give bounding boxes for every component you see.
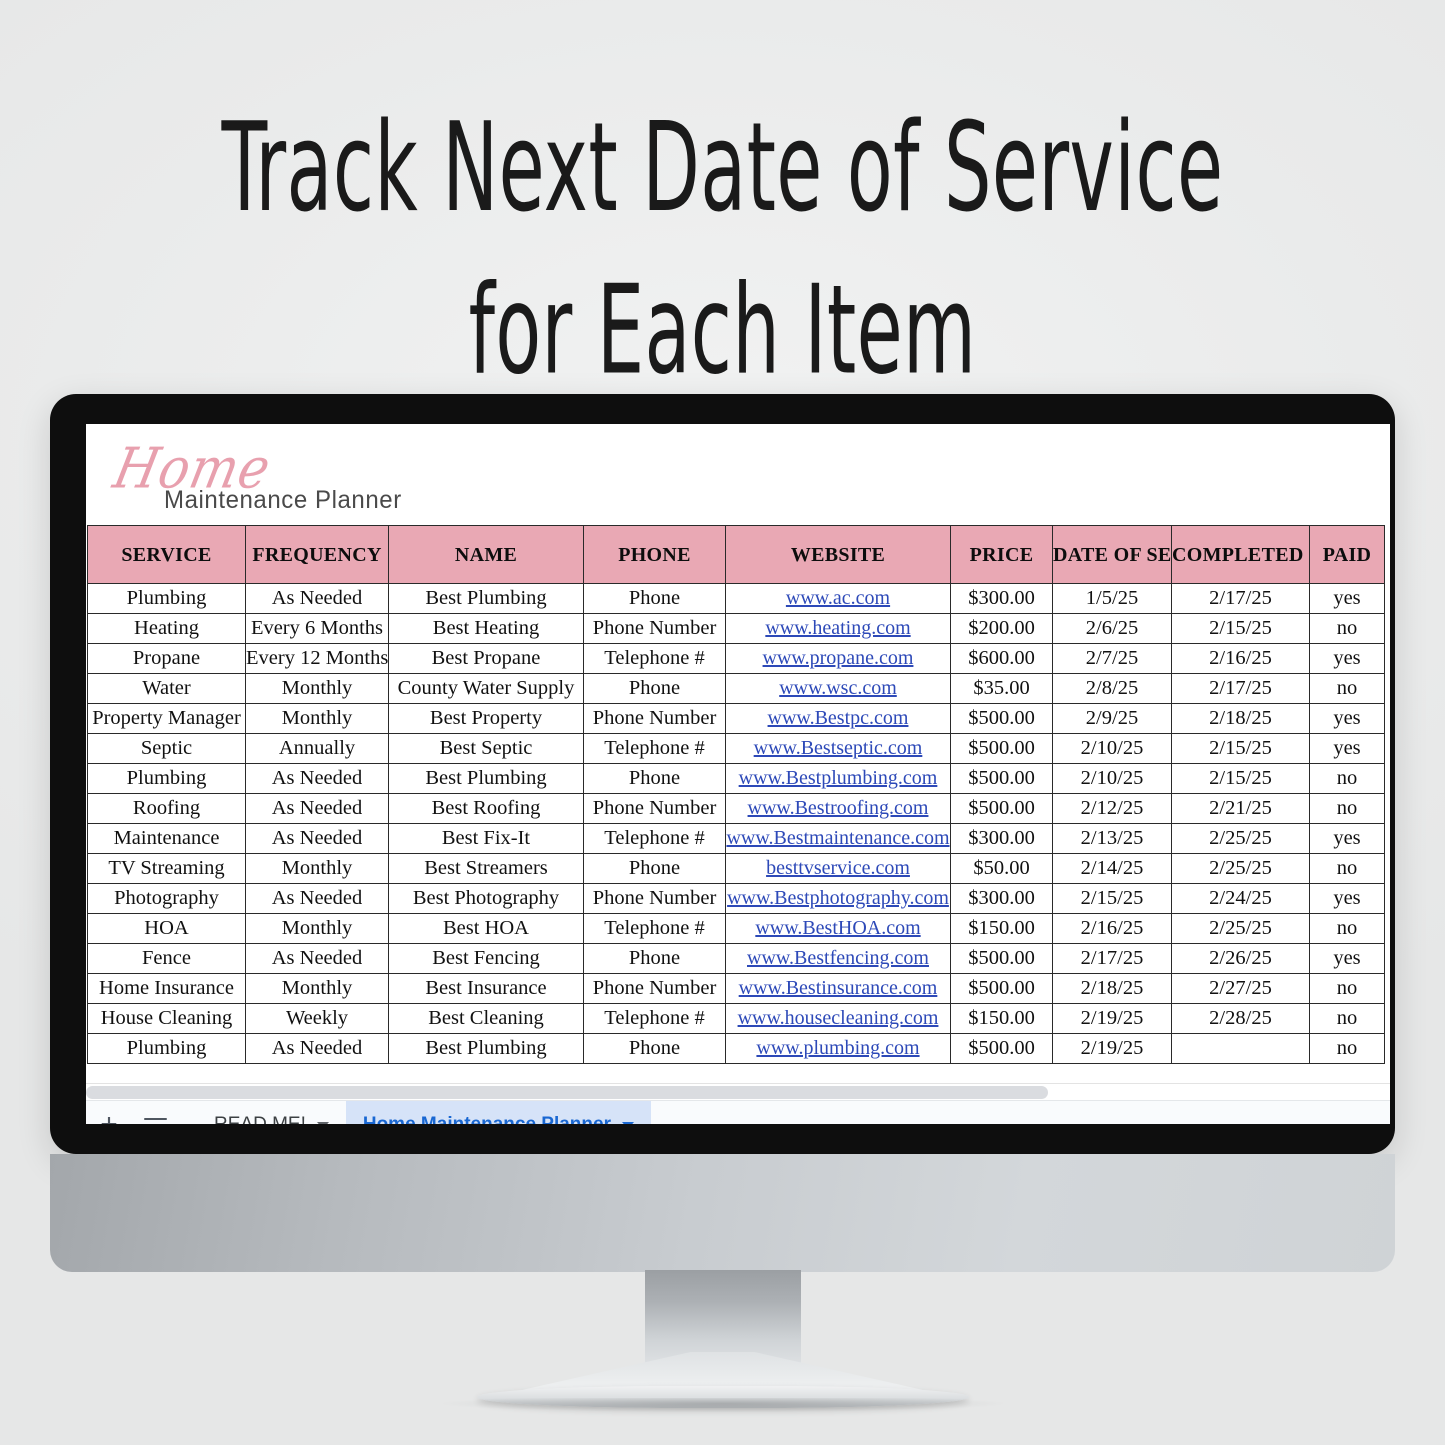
cell-price[interactable]: $300.00 bbox=[951, 884, 1053, 914]
cell-name[interactable]: Best Plumbing bbox=[389, 584, 584, 614]
cell-service[interactable]: Plumbing bbox=[88, 584, 246, 614]
cell-service[interactable]: Water bbox=[88, 674, 246, 704]
cell-website[interactable]: www.Bestroofing.com bbox=[726, 794, 951, 824]
cell-service[interactable]: Maintenance bbox=[88, 824, 246, 854]
sheet-tab-bar: + READ ME! Home Maintenance Planner bbox=[86, 1100, 1390, 1124]
spreadsheet-grid[interactable]: SERVICE FREQUENCY NAME PHONE WEBSITE PRI… bbox=[86, 525, 1390, 1083]
cell-website[interactable]: besttvservice.com bbox=[726, 854, 951, 884]
cell-completed-date[interactable]: 2/17/25 bbox=[1172, 584, 1310, 614]
cell-service[interactable]: Home Insurance bbox=[88, 974, 246, 1004]
cell-website[interactable]: www.Bestmaintenance.com bbox=[726, 824, 951, 854]
cell-price[interactable]: $150.00 bbox=[951, 914, 1053, 944]
cell-price[interactable]: $500.00 bbox=[951, 794, 1053, 824]
table-header-row: SERVICE FREQUENCY NAME PHONE WEBSITE PRI… bbox=[88, 526, 1385, 584]
sheet-tab-read-me-label: READ ME! bbox=[214, 1114, 306, 1124]
cell-completed-date[interactable]: 2/15/25 bbox=[1172, 734, 1310, 764]
cell-frequency[interactable]: Every 12 Months bbox=[246, 644, 389, 674]
cell-name[interactable]: Best Fix-It bbox=[389, 824, 584, 854]
column-header-service[interactable]: SERVICE bbox=[88, 526, 246, 584]
table-row: MaintenanceAs NeededBest Fix-ItTelephone… bbox=[88, 824, 1385, 854]
horizontal-scrollbar-track[interactable] bbox=[86, 1083, 1390, 1101]
column-header-date-of-service[interactable]: DATE OF SERVICE bbox=[1053, 526, 1172, 584]
cell-completed-date[interactable]: 2/15/25 bbox=[1172, 614, 1310, 644]
poster-canvas: Track Next Date of Service for Each Item… bbox=[0, 0, 1445, 1445]
maintenance-table: SERVICE FREQUENCY NAME PHONE WEBSITE PRI… bbox=[87, 525, 1385, 1064]
website-link[interactable]: besttvservice.com bbox=[766, 857, 910, 879]
cell-frequency[interactable]: As Needed bbox=[246, 764, 389, 794]
cell-frequency[interactable]: Monthly bbox=[246, 854, 389, 884]
cell-date-of-service[interactable]: 2/19/25 bbox=[1053, 1004, 1172, 1034]
cell-paid[interactable]: yes bbox=[1310, 884, 1385, 914]
cell-paid[interactable]: no bbox=[1310, 854, 1385, 884]
website-link[interactable]: www.housecleaning.com bbox=[738, 1007, 939, 1029]
cell-date-of-service[interactable]: 2/7/25 bbox=[1053, 644, 1172, 674]
cell-phone[interactable]: Phone bbox=[584, 584, 726, 614]
cell-price[interactable]: $500.00 bbox=[951, 974, 1053, 1004]
cell-phone[interactable]: Phone bbox=[584, 674, 726, 704]
cell-date-of-service[interactable]: 2/10/25 bbox=[1053, 764, 1172, 794]
cell-name[interactable]: Best Cleaning bbox=[389, 1004, 584, 1034]
website-link[interactable]: www.BestHOA.com bbox=[755, 917, 920, 939]
cell-price[interactable]: $500.00 bbox=[951, 944, 1053, 974]
website-link[interactable]: www.ac.com bbox=[786, 587, 890, 609]
cell-completed-date[interactable]: 2/17/25 bbox=[1172, 674, 1310, 704]
cell-price[interactable]: $500.00 bbox=[951, 1034, 1053, 1064]
table-row: SepticAnnuallyBest SepticTelephone #www.… bbox=[88, 734, 1385, 764]
cell-name[interactable]: Best Plumbing bbox=[389, 1034, 584, 1064]
monitor-bezel: Home Maintenance Planner SERVICE FREQ bbox=[50, 394, 1395, 1154]
cell-date-of-service[interactable]: 2/19/25 bbox=[1053, 1034, 1172, 1064]
cell-website[interactable]: www.Bestseptic.com bbox=[726, 734, 951, 764]
website-link[interactable]: www.heating.com bbox=[765, 617, 910, 639]
website-link[interactable]: www.wsc.com bbox=[779, 677, 897, 699]
cell-date-of-service[interactable]: 2/15/25 bbox=[1053, 884, 1172, 914]
hamburger-icon bbox=[144, 1114, 167, 1124]
cell-price[interactable]: $35.00 bbox=[951, 674, 1053, 704]
table-body: PlumbingAs NeededBest PlumbingPhonewww.a… bbox=[88, 584, 1385, 1064]
table-row: HeatingEvery 6 MonthsBest HeatingPhone N… bbox=[88, 614, 1385, 644]
cell-name[interactable]: County Water Supply bbox=[389, 674, 584, 704]
cell-date-of-service[interactable]: 2/6/25 bbox=[1053, 614, 1172, 644]
cell-phone[interactable]: Phone Number bbox=[584, 974, 726, 1004]
website-link[interactable]: www.Bestroofing.com bbox=[748, 797, 929, 819]
website-link[interactable]: www.Bestplumbing.com bbox=[739, 767, 938, 789]
cell-price[interactable]: $500.00 bbox=[951, 764, 1053, 794]
cell-completed-date[interactable]: 2/24/25 bbox=[1172, 884, 1310, 914]
cell-name[interactable]: Best Insurance bbox=[389, 974, 584, 1004]
cell-completed-date[interactable]: 2/25/25 bbox=[1172, 824, 1310, 854]
cell-price[interactable]: $150.00 bbox=[951, 1004, 1053, 1034]
cell-frequency[interactable]: Monthly bbox=[246, 974, 389, 1004]
cell-website[interactable]: www.housecleaning.com bbox=[726, 1004, 951, 1034]
table-row: FenceAs NeededBest FencingPhonewww.Bestf… bbox=[88, 944, 1385, 974]
website-link[interactable]: www.Bestseptic.com bbox=[754, 737, 923, 759]
cell-date-of-service[interactable]: 2/10/25 bbox=[1053, 734, 1172, 764]
cell-date-of-service[interactable]: 2/8/25 bbox=[1053, 674, 1172, 704]
cell-frequency[interactable]: As Needed bbox=[246, 1034, 389, 1064]
page-title-line-2: for Each Item bbox=[145, 249, 1301, 412]
cell-service[interactable]: Septic bbox=[88, 734, 246, 764]
cell-website[interactable]: www.ac.com bbox=[726, 584, 951, 614]
cell-completed-date[interactable]: 2/16/25 bbox=[1172, 644, 1310, 674]
table-row: PropaneEvery 12 MonthsBest PropaneTeleph… bbox=[88, 644, 1385, 674]
table-row: PlumbingAs NeededBest PlumbingPhonewww.p… bbox=[88, 1034, 1385, 1064]
cell-website[interactable]: www.Bestfencing.com bbox=[726, 944, 951, 974]
cell-service[interactable]: Plumbing bbox=[88, 764, 246, 794]
cell-paid[interactable]: no bbox=[1310, 794, 1385, 824]
cell-date-of-service[interactable]: 2/18/25 bbox=[1053, 974, 1172, 1004]
cell-phone[interactable]: Telephone # bbox=[584, 644, 726, 674]
cell-phone[interactable]: Telephone # bbox=[584, 824, 726, 854]
home-maintenance-planner-logo: Home Maintenance Planner bbox=[122, 436, 452, 520]
column-header-frequency[interactable]: FREQUENCY bbox=[246, 526, 389, 584]
table-row: House CleaningWeeklyBest CleaningTelepho… bbox=[88, 1004, 1385, 1034]
table-row: WaterMonthlyCounty Water SupplyPhonewww.… bbox=[88, 674, 1385, 704]
chevron-down-icon[interactable] bbox=[317, 1122, 329, 1125]
cell-completed-date[interactable]: 2/26/25 bbox=[1172, 944, 1310, 974]
cell-completed-date[interactable]: 2/18/25 bbox=[1172, 704, 1310, 734]
sheet-tab-home-maintenance-planner[interactable]: Home Maintenance Planner bbox=[346, 1101, 651, 1124]
cell-date-of-service[interactable]: 2/9/25 bbox=[1053, 704, 1172, 734]
cell-paid[interactable]: no bbox=[1310, 974, 1385, 1004]
cell-frequency[interactable]: As Needed bbox=[246, 944, 389, 974]
website-link[interactable]: www.Bestmaintenance.com bbox=[726, 827, 949, 849]
cell-frequency[interactable]: As Needed bbox=[246, 794, 389, 824]
cell-name[interactable]: Best Plumbing bbox=[389, 764, 584, 794]
monitor-screen: Home Maintenance Planner SERVICE FREQ bbox=[86, 424, 1390, 1124]
chevron-down-icon[interactable] bbox=[622, 1122, 634, 1125]
cell-paid[interactable]: no bbox=[1310, 764, 1385, 794]
cell-completed-date[interactable]: 2/28/25 bbox=[1172, 1004, 1310, 1034]
column-header-website[interactable]: WEBSITE bbox=[726, 526, 951, 584]
cell-paid[interactable]: yes bbox=[1310, 644, 1385, 674]
cell-name[interactable]: Best Heating bbox=[389, 614, 584, 644]
cell-frequency[interactable]: Monthly bbox=[246, 914, 389, 944]
sheet-tab-home-maintenance-planner-label: Home Maintenance Planner bbox=[363, 1114, 611, 1124]
cell-price[interactable]: $500.00 bbox=[951, 734, 1053, 764]
cell-website[interactable]: www.propane.com bbox=[726, 644, 951, 674]
cell-name[interactable]: Best Property bbox=[389, 704, 584, 734]
cell-paid[interactable]: no bbox=[1310, 1034, 1385, 1064]
cell-completed-date[interactable]: 2/15/25 bbox=[1172, 764, 1310, 794]
cell-price[interactable]: $300.00 bbox=[951, 824, 1053, 854]
cell-phone[interactable]: Phone Number bbox=[584, 704, 726, 734]
cell-phone[interactable]: Phone bbox=[584, 1034, 726, 1064]
cell-phone[interactable]: Telephone # bbox=[584, 734, 726, 764]
cell-service[interactable]: Property Manager bbox=[88, 704, 246, 734]
cell-paid[interactable]: yes bbox=[1310, 734, 1385, 764]
table-row: TV StreamingMonthlyBest StreamersPhonebe… bbox=[88, 854, 1385, 884]
cell-name[interactable]: Best Photography bbox=[389, 884, 584, 914]
cell-frequency[interactable]: As Needed bbox=[246, 884, 389, 914]
cell-paid[interactable]: no bbox=[1310, 614, 1385, 644]
cell-frequency[interactable]: Monthly bbox=[246, 674, 389, 704]
cell-website[interactable]: www.wsc.com bbox=[726, 674, 951, 704]
website-link[interactable]: www.propane.com bbox=[763, 647, 914, 669]
cell-name[interactable]: Best Propane bbox=[389, 644, 584, 674]
cell-phone[interactable]: Telephone # bbox=[584, 914, 726, 944]
cell-phone[interactable]: Phone bbox=[584, 854, 726, 884]
cell-name[interactable]: Best HOA bbox=[389, 914, 584, 944]
horizontal-scrollbar-thumb[interactable] bbox=[86, 1086, 1048, 1099]
cell-website[interactable]: www.BestHOA.com bbox=[726, 914, 951, 944]
add-sheet-icon[interactable]: + bbox=[86, 1101, 132, 1124]
cell-price[interactable]: $200.00 bbox=[951, 614, 1053, 644]
monitor-stand-shadow bbox=[443, 1398, 1003, 1412]
cell-paid[interactable]: yes bbox=[1310, 944, 1385, 974]
cell-paid[interactable]: yes bbox=[1310, 824, 1385, 854]
table-row: RoofingAs NeededBest RoofingPhone Number… bbox=[88, 794, 1385, 824]
all-sheets-menu-icon[interactable] bbox=[132, 1101, 178, 1124]
cell-website[interactable]: www.plumbing.com bbox=[726, 1034, 951, 1064]
table-row: Property ManagerMonthlyBest PropertyPhon… bbox=[88, 704, 1385, 734]
cell-completed-date[interactable]: 2/21/25 bbox=[1172, 794, 1310, 824]
cell-phone[interactable]: Telephone # bbox=[584, 1004, 726, 1034]
cell-date-of-service[interactable]: 2/17/25 bbox=[1053, 944, 1172, 974]
cell-paid[interactable]: yes bbox=[1310, 584, 1385, 614]
cell-frequency[interactable]: Every 6 Months bbox=[246, 614, 389, 644]
table-row: PlumbingAs NeededBest PlumbingPhonewww.B… bbox=[88, 764, 1385, 794]
cell-frequency[interactable]: Weekly bbox=[246, 1004, 389, 1034]
sheet-tab-read-me[interactable]: READ ME! bbox=[197, 1101, 346, 1124]
table-row: PhotographyAs NeededBest PhotographyPhon… bbox=[88, 884, 1385, 914]
cell-phone[interactable]: Phone bbox=[584, 944, 726, 974]
cell-price[interactable]: $500.00 bbox=[951, 704, 1053, 734]
cell-date-of-service[interactable]: 1/5/25 bbox=[1053, 584, 1172, 614]
cell-website[interactable]: www.Bestinsurance.com bbox=[726, 974, 951, 1004]
cell-service[interactable]: Fence bbox=[88, 944, 246, 974]
logo-subtitle-text: Maintenance Planner bbox=[164, 486, 402, 515]
cell-completed-date[interactable]: 2/27/25 bbox=[1172, 974, 1310, 1004]
cell-paid[interactable]: no bbox=[1310, 1004, 1385, 1034]
cell-service[interactable]: HOA bbox=[88, 914, 246, 944]
cell-completed-date[interactable]: 2/25/25 bbox=[1172, 854, 1310, 884]
sheet-branding-area: Home Maintenance Planner bbox=[86, 424, 1390, 525]
website-link[interactable]: www.Bestpc.com bbox=[768, 707, 909, 729]
monitor-chin bbox=[50, 1154, 1395, 1272]
cell-completed-date[interactable] bbox=[1172, 1034, 1310, 1064]
cell-phone[interactable]: Phone Number bbox=[584, 884, 726, 914]
cell-phone[interactable]: Phone Number bbox=[584, 794, 726, 824]
cell-frequency[interactable]: Annually bbox=[246, 734, 389, 764]
cell-price[interactable]: $600.00 bbox=[951, 644, 1053, 674]
cell-service[interactable]: Roofing bbox=[88, 794, 246, 824]
cell-service[interactable]: Heating bbox=[88, 614, 246, 644]
cell-price[interactable]: $50.00 bbox=[951, 854, 1053, 884]
column-header-name[interactable]: NAME bbox=[389, 526, 584, 584]
column-header-phone[interactable]: PHONE bbox=[584, 526, 726, 584]
cell-frequency[interactable]: As Needed bbox=[246, 584, 389, 614]
column-header-price[interactable]: PRICE bbox=[951, 526, 1053, 584]
cell-paid[interactable]: no bbox=[1310, 914, 1385, 944]
page-title-line-1: Track Next Date of Service bbox=[222, 95, 1224, 239]
cell-price[interactable]: $300.00 bbox=[951, 584, 1053, 614]
table-row: PlumbingAs NeededBest PlumbingPhonewww.a… bbox=[88, 584, 1385, 614]
page-title: Track Next Date of Service for Each Item bbox=[145, 86, 1301, 412]
cell-frequency[interactable]: As Needed bbox=[246, 824, 389, 854]
cell-service[interactable]: Photography bbox=[88, 884, 246, 914]
cell-date-of-service[interactable]: 2/12/25 bbox=[1053, 794, 1172, 824]
table-row: HOAMonthlyBest HOATelephone #www.BestHOA… bbox=[88, 914, 1385, 944]
cell-name[interactable]: Best Fencing bbox=[389, 944, 584, 974]
column-header-completed-date[interactable]: COMPLETED DATE bbox=[1172, 526, 1310, 584]
table-row: Home InsuranceMonthlyBest InsurancePhone… bbox=[88, 974, 1385, 1004]
cell-frequency[interactable]: Monthly bbox=[246, 704, 389, 734]
column-header-paid[interactable]: PAID bbox=[1310, 526, 1385, 584]
cell-service[interactable]: Propane bbox=[88, 644, 246, 674]
cell-service[interactable]: TV Streaming bbox=[88, 854, 246, 884]
website-link[interactable]: www.plumbing.com bbox=[756, 1037, 919, 1059]
cell-name[interactable]: Best Streamers bbox=[389, 854, 584, 884]
cell-website[interactable]: www.Bestpc.com bbox=[726, 704, 951, 734]
website-link[interactable]: www.Bestphotography.com bbox=[727, 887, 949, 909]
cell-name[interactable]: Best Roofing bbox=[389, 794, 584, 824]
cell-service[interactable]: Plumbing bbox=[88, 1034, 246, 1064]
cell-date-of-service[interactable]: 2/16/25 bbox=[1053, 914, 1172, 944]
website-link[interactable]: www.Bestinsurance.com bbox=[739, 977, 938, 999]
cell-website[interactable]: www.Bestplumbing.com bbox=[726, 764, 951, 794]
cell-phone[interactable]: Phone Number bbox=[584, 614, 726, 644]
website-link[interactable]: www.Bestfencing.com bbox=[747, 947, 929, 969]
cell-phone[interactable]: Phone bbox=[584, 764, 726, 794]
cell-website[interactable]: www.heating.com bbox=[726, 614, 951, 644]
cell-paid[interactable]: no bbox=[1310, 674, 1385, 704]
cell-website[interactable]: www.Bestphotography.com bbox=[726, 884, 951, 914]
cell-name[interactable]: Best Septic bbox=[389, 734, 584, 764]
cell-date-of-service[interactable]: 2/13/25 bbox=[1053, 824, 1172, 854]
cell-service[interactable]: House Cleaning bbox=[88, 1004, 246, 1034]
cell-completed-date[interactable]: 2/25/25 bbox=[1172, 914, 1310, 944]
cell-paid[interactable]: yes bbox=[1310, 704, 1385, 734]
cell-date-of-service[interactable]: 2/14/25 bbox=[1053, 854, 1172, 884]
